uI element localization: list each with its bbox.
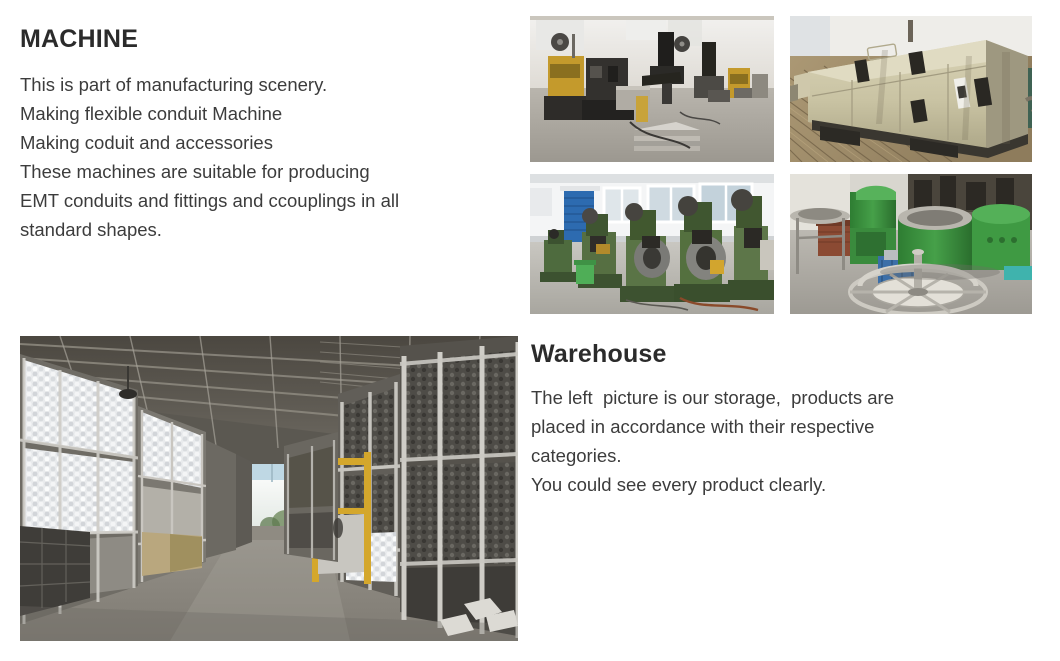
machine-paragraph-line: Making coduit and accessories bbox=[20, 128, 520, 157]
machine-photo-grid bbox=[530, 16, 1032, 314]
machine-heading: MACHINE bbox=[20, 26, 520, 54]
machine-paragraph-line: This is part of manufacturing scenery. bbox=[20, 70, 520, 99]
page-root: MACHINE This is part of manufacturing sc… bbox=[0, 0, 1060, 661]
warehouse-paragraph-line: You could see every product clearly. bbox=[531, 470, 1031, 499]
green-drum-machines-photo bbox=[782, 168, 1032, 314]
warehouse-section: Warehouse The left picture is our storag… bbox=[531, 341, 1031, 499]
machine-paragraph-line: EMT conduits and fittings and ccouplings… bbox=[20, 186, 520, 215]
machine-paragraph-line: standard shapes. bbox=[20, 215, 520, 244]
machine-shop-overview-photo bbox=[530, 16, 782, 168]
machine-paragraph-line: These machines are suitable for producin… bbox=[20, 157, 520, 186]
warehouse-paragraph-line: categories. bbox=[531, 441, 1031, 470]
warehouse-paragraph-line: placed in accordance with their respecti… bbox=[531, 412, 1031, 441]
large-beige-machine-photo bbox=[782, 16, 1032, 168]
large-beige-machine-illustration bbox=[790, 16, 1032, 162]
machine-section: MACHINE This is part of manufacturing sc… bbox=[20, 26, 520, 244]
warehouse-storage-illustration bbox=[20, 336, 518, 641]
warehouse-storage-photo bbox=[20, 336, 518, 641]
machine-paragraph-line: Making flexible conduit Machine bbox=[20, 99, 520, 128]
warehouse-paragraph-line: The left picture is our storage, product… bbox=[531, 383, 1031, 412]
green-punch-press-illustration bbox=[530, 174, 774, 314]
machine-shop-overview-illustration bbox=[530, 16, 774, 162]
green-punch-press-row-photo bbox=[530, 168, 782, 314]
warehouse-heading: Warehouse bbox=[531, 341, 1031, 369]
green-drum-machines-illustration bbox=[790, 174, 1032, 314]
